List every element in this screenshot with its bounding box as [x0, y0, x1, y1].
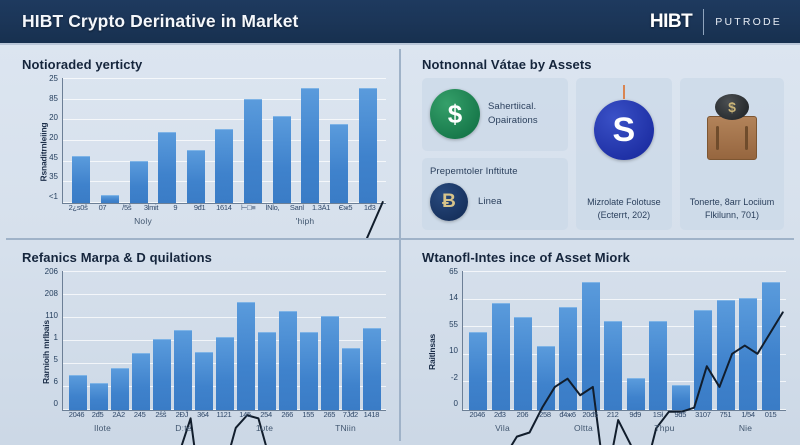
panel-grid: Notioraded yerticty Rsnaditrnleiing 25 8…	[0, 45, 800, 445]
app-header: HIBT Crypto Derinative in Market HIBT PU…	[0, 0, 800, 45]
y-tick: 0	[54, 400, 58, 408]
y-tick: 0	[454, 400, 458, 408]
brand-divider	[703, 9, 704, 35]
bar	[359, 88, 377, 203]
bar	[69, 375, 87, 410]
x-group-label: 'hiph	[224, 216, 386, 228]
panel-notional-velocity: Notioraded yerticty Rsnaditrnleiing 25 8…	[0, 45, 400, 238]
y-tick: 20	[49, 134, 58, 142]
bar	[215, 129, 233, 203]
asset-card-row: Ƀ Linea	[430, 183, 560, 221]
x-tick: ⊢□≡	[237, 204, 259, 216]
bar	[244, 99, 262, 203]
bar	[604, 321, 622, 410]
y-tick: 14	[449, 294, 458, 302]
chart-notional-velocity: Rsnaditrnleiing 25 85 20 20 45 35 <1	[12, 78, 388, 226]
bar	[694, 310, 712, 410]
x-tick: 1614	[213, 204, 235, 216]
bar	[279, 311, 297, 410]
asset-card-label: Sahertiical. Opairations	[488, 100, 538, 129]
x-tick: 2đ3	[489, 411, 511, 423]
bar	[187, 150, 205, 203]
y-tick: 10	[449, 347, 458, 355]
bar	[216, 337, 234, 410]
x-tick: 266	[277, 411, 298, 423]
brand-logo: HIBT PUTRODE	[650, 9, 782, 35]
y-tick: 208	[45, 290, 58, 298]
x-tick: Sanl	[286, 204, 308, 216]
x-axis-ticks: 20462đ52À22452ŝŝ2ĐĴ364112114525426615526…	[62, 411, 386, 423]
y-tick: 45	[49, 154, 58, 162]
y-tick: 6	[54, 378, 58, 386]
bar-series	[463, 271, 786, 410]
bar-series	[63, 271, 386, 410]
panel-title: Notnonnal Vátae by Assets	[422, 57, 788, 72]
x-tick: 1đ3	[359, 204, 381, 216]
asset-card-vault[interactable]: $ Tonerte, 8arr Lociium Flkilunn, 701)	[680, 78, 784, 230]
y-tick: 35	[49, 173, 58, 181]
vault-icon	[707, 116, 757, 160]
x-tick: đ4ж6	[557, 411, 579, 423]
x-group-label: Thpu	[624, 423, 705, 435]
x-tick: 212	[602, 411, 624, 423]
y-tick: 5	[54, 356, 58, 364]
x-tick: 1418	[361, 411, 382, 423]
bar	[101, 195, 119, 203]
x-group-label: Oltta	[543, 423, 624, 435]
x-tick: 9	[164, 204, 186, 216]
bar	[273, 116, 291, 203]
x-tick: 20đ5	[579, 411, 601, 423]
panel-refanics-marpa: Refanics Marpa & D quilations Rarnioih m…	[0, 238, 400, 445]
bar	[72, 156, 90, 203]
bar	[90, 383, 108, 410]
x-tick: 9đ9	[624, 411, 646, 423]
panel-wtanofl-intes: Wtanofl-Intes ince of Asset Miork Raitln…	[400, 238, 800, 445]
y-tick: 85	[49, 95, 58, 103]
panel-title: Wtanofl-Intes ince of Asset Miork	[422, 250, 788, 265]
y-tick: 25	[49, 75, 58, 83]
x-tick: 07	[91, 204, 113, 216]
x-tick: 2ŝŝ	[150, 411, 171, 423]
x-tick: 3lmit	[140, 204, 162, 216]
bar	[649, 321, 667, 410]
x-axis-groups: VilaOlttaThpuNie	[462, 423, 786, 435]
x-tick: 254	[256, 411, 277, 423]
x-tick: 1Sł	[647, 411, 669, 423]
bar	[153, 339, 171, 410]
x-group-label: Vila	[462, 423, 543, 435]
bar	[237, 302, 255, 410]
bar	[111, 368, 129, 410]
plot-area	[462, 271, 786, 411]
y-tick: 55	[449, 321, 458, 329]
chart-wtanofl-intes: Raitlnsas 65 14 55 10 -2 0	[412, 271, 788, 433]
s-coin-stack: S	[592, 94, 656, 160]
y-tick: -2	[451, 374, 458, 382]
bar	[672, 385, 690, 410]
x-axis-groups: Noly'hiph	[62, 216, 386, 228]
antenna-icon	[623, 85, 625, 99]
bar-series	[63, 78, 386, 203]
bar	[492, 303, 510, 410]
x-tick: 2046	[466, 411, 488, 423]
x-tick: 155	[298, 411, 319, 423]
x-tick: lNlo,	[262, 204, 284, 216]
dollar-coin-dark-icon: $	[715, 94, 749, 120]
x-tick: 7Ĵđ2	[340, 411, 361, 423]
bar	[363, 328, 381, 410]
x-tick: /5ŝ	[116, 204, 138, 216]
asset-card-caption: Tonerte, 8arr Lociium Flkilunn, 701)	[690, 196, 775, 222]
y-tick: 110	[45, 312, 58, 320]
plot-area	[62, 271, 386, 411]
y-tick: 65	[449, 268, 458, 276]
x-group-label: TNiin	[305, 423, 386, 435]
bar	[330, 124, 348, 203]
y-axis-ticks: 206 208 110 1 5 6 0	[32, 271, 58, 411]
x-tick: 258	[534, 411, 556, 423]
x-tick: 2À2	[108, 411, 129, 423]
bar	[582, 282, 600, 410]
asset-card-linea[interactable]: Prepemtoler Inftitute Ƀ Linea	[422, 158, 568, 231]
x-tick: 9đ5	[669, 411, 691, 423]
y-tick: <1	[49, 193, 58, 201]
asset-card-column-left: $ Sahertiical. Opairations Prepemtoler I…	[422, 78, 568, 230]
x-tick: 364	[192, 411, 213, 423]
bar	[342, 348, 360, 410]
bar	[717, 300, 735, 410]
bar	[559, 307, 577, 410]
bar	[739, 298, 757, 410]
page-title: HIBT Crypto Derinative in Market	[22, 11, 298, 32]
bar	[301, 88, 319, 203]
x-axis-groups: IloteDːte1ʋteTNiin	[62, 423, 386, 435]
bar	[130, 161, 148, 204]
bar	[514, 317, 532, 410]
panel-notional-value-by-assets: Notnonnal Vátae by Assets $ Sahertiical.…	[400, 45, 800, 238]
y-axis-ticks: 65 14 55 10 -2 0	[432, 271, 458, 411]
x-tick: 2¿s0ŝ	[67, 204, 89, 216]
x-tick: 9đ1	[189, 204, 211, 216]
bar	[258, 332, 276, 410]
x-group-label: Ilote	[62, 423, 143, 435]
chart-refanics-marpa: Rarnioih mrlbais 206 208 110 1 5 6 0	[12, 271, 388, 433]
panel-title: Notioraded yerticty	[22, 57, 388, 72]
s-coin-blue-icon: S	[594, 100, 654, 160]
asset-card-toplabel: Prepemtoler Inftitute	[430, 166, 560, 177]
asset-card-operations[interactable]: $ Sahertiical. Opairations	[422, 78, 568, 151]
bar	[762, 282, 780, 410]
panel-title: Refanics Marpa & D quilations	[22, 250, 388, 265]
bar	[537, 346, 555, 410]
x-tick: 245	[129, 411, 150, 423]
x-tick: Єж5	[334, 204, 356, 216]
x-group-label: Nie	[705, 423, 786, 435]
x-tick: 015	[760, 411, 782, 423]
y-tick: 206	[45, 268, 58, 276]
bar	[300, 332, 318, 410]
asset-card-label: Linea	[478, 195, 502, 209]
x-group-label: 1ʋte	[224, 423, 305, 435]
x-tick: 3107	[692, 411, 714, 423]
y-axis-ticks: 25 85 20 20 45 35 <1	[32, 78, 58, 204]
bar	[627, 378, 645, 410]
x-tick: 145	[235, 411, 256, 423]
x-tick: 2046	[66, 411, 87, 423]
x-tick: 1121	[213, 411, 234, 423]
asset-card-mizrolate[interactable]: S Mizrolate Folotuse (Ecterrt, 202)	[576, 78, 672, 230]
x-group-label: Noly	[62, 216, 224, 228]
bar	[174, 330, 192, 410]
bitcoin-coin-navy-icon: Ƀ	[430, 183, 468, 221]
brand-subtitle-text: PUTRODE	[715, 16, 782, 28]
brand-mark-text: HIBT	[650, 11, 692, 33]
x-tick: 206	[511, 411, 533, 423]
bar	[469, 332, 487, 410]
bar	[321, 316, 339, 410]
plot-area	[62, 78, 386, 204]
y-tick: 1	[54, 334, 58, 342]
dollar-coin-green-icon: $	[430, 89, 480, 139]
x-tick: 751	[714, 411, 736, 423]
vault-coin-stack: $	[700, 94, 764, 160]
bar	[132, 353, 150, 410]
x-tick: 1/54	[737, 411, 759, 423]
x-tick: 2đ5	[87, 411, 108, 423]
x-axis-ticks: 2¿s0ŝ07/5ŝ3lmit99đ11614⊢□≡lNlo,Sanl1.3À1…	[62, 204, 386, 216]
dashboard-root: HIBT Crypto Derinative in Market HIBT PU…	[0, 0, 800, 445]
x-group-label: Dːte	[143, 423, 224, 435]
asset-card-caption: Mizrolate Folotuse (Ecterrt, 202)	[587, 196, 661, 222]
y-tick: 20	[49, 114, 58, 122]
x-tick: 1.3À1	[310, 204, 332, 216]
x-tick: 265	[319, 411, 340, 423]
bar	[158, 132, 176, 203]
bar	[195, 352, 213, 410]
asset-card-grid: $ Sahertiical. Opairations Prepemtoler I…	[422, 78, 784, 230]
x-axis-ticks: 20462đ3206258đ4ж620đ52129đ91Sł9đ53107751…	[462, 411, 786, 423]
x-tick: 2ĐĴ	[171, 411, 192, 423]
